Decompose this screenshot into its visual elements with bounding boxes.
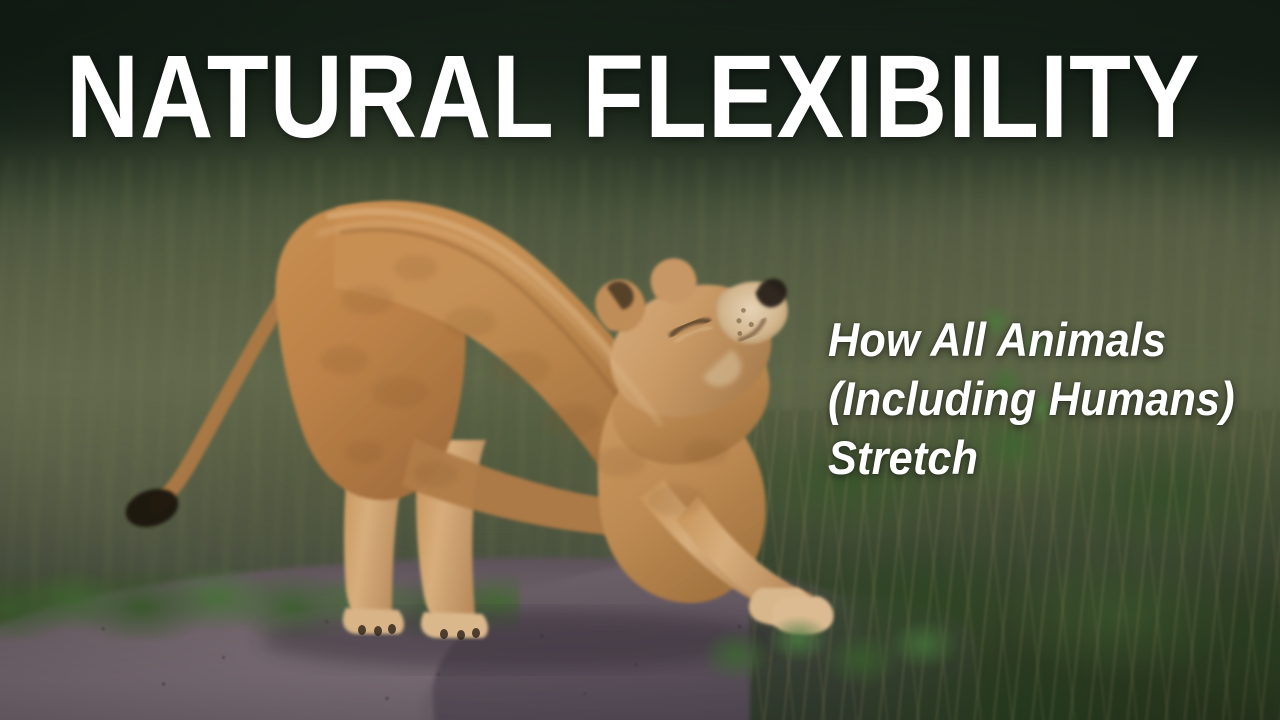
- page-title: NATURAL FLEXIBILITY: [66, 38, 1200, 156]
- foreground-grass-overlay: [700, 590, 960, 720]
- low-vegetation-left: [0, 530, 520, 640]
- subtitle-line-3: Stretch: [828, 428, 1224, 487]
- subtitle-block: How All Animals (Including Humans) Stret…: [828, 310, 1258, 488]
- subtitle-line-2: (Including Humans): [828, 369, 1224, 428]
- video-thumbnail: NATURAL FLEXIBILITY How All Animals (Inc…: [0, 0, 1280, 720]
- subtitle-line-1: How All Animals: [828, 310, 1224, 369]
